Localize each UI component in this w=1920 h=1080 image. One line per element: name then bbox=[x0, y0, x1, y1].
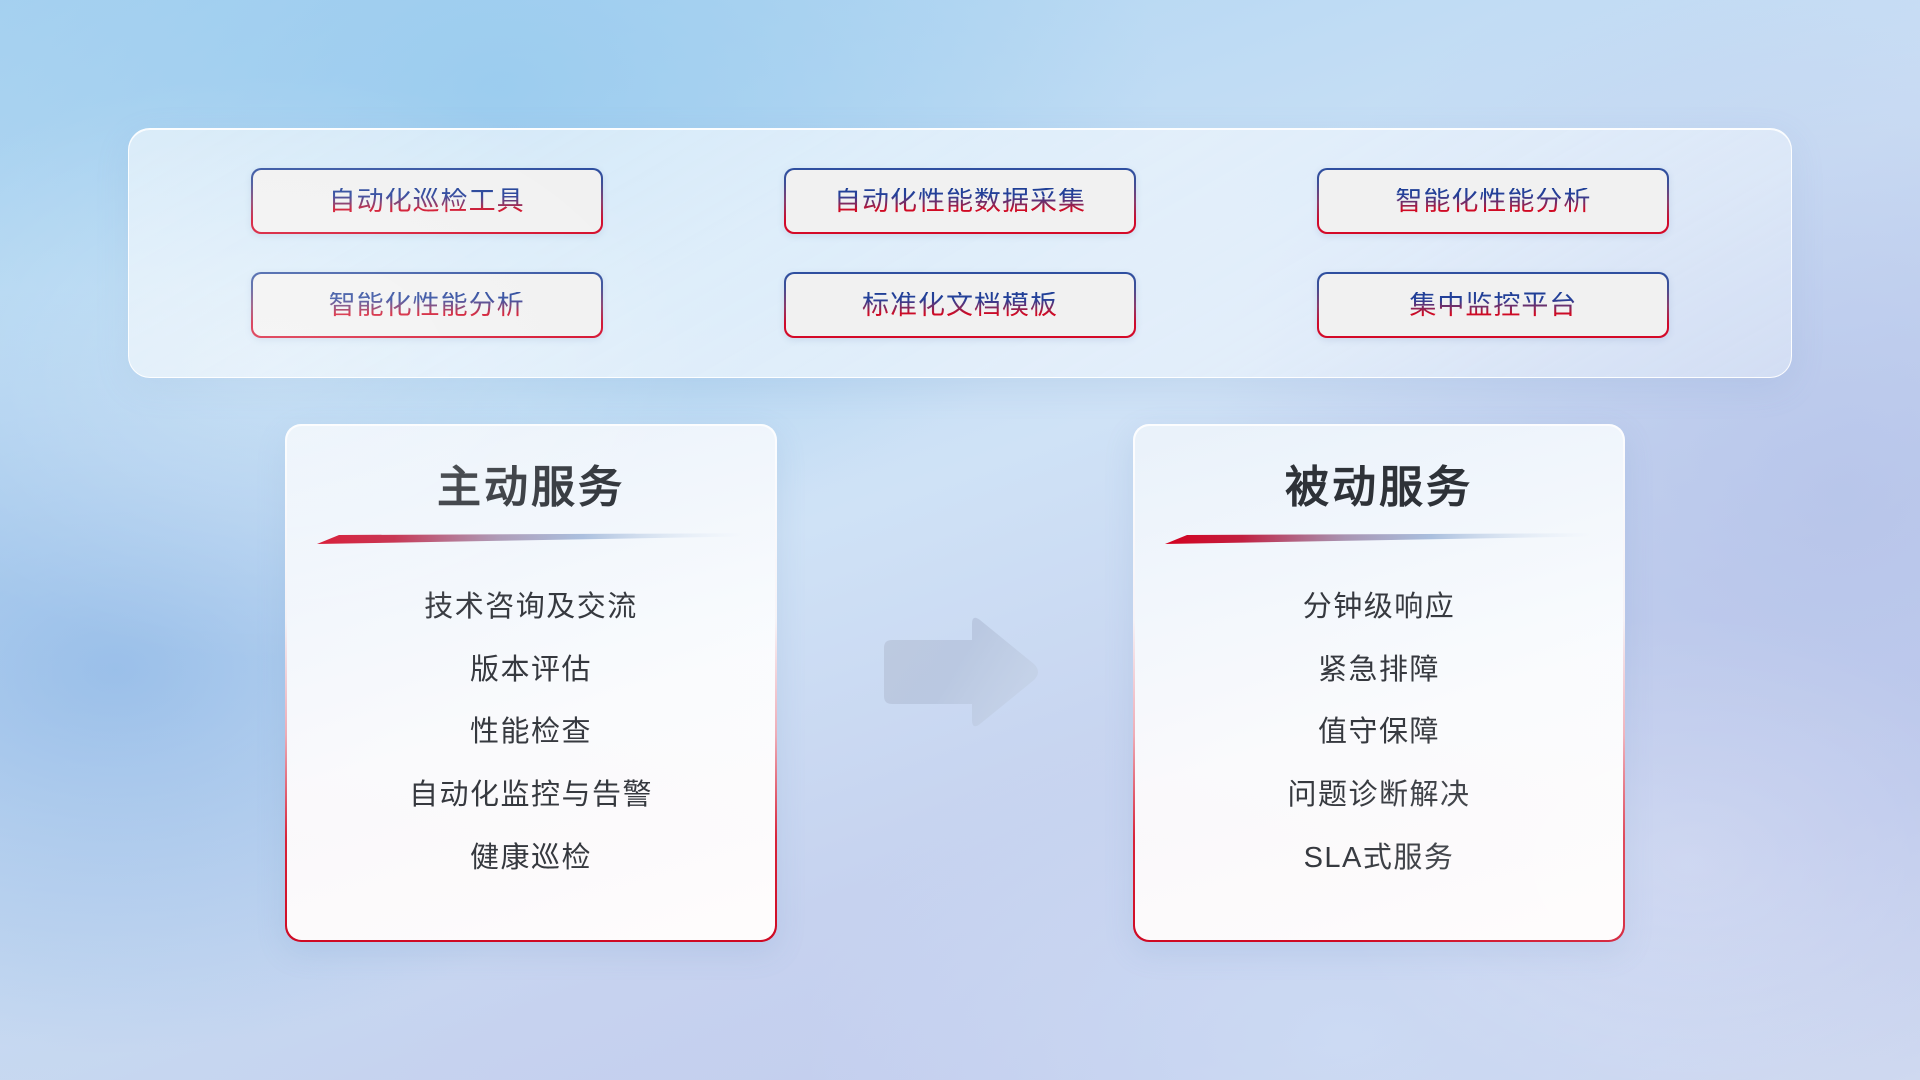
capability-chip-inner: 自动化巡检工具 bbox=[253, 170, 601, 232]
capability-panel: 自动化巡检工具 自动化性能数据采集 智能化性能分析 智能化性能分析 标准化文档模… bbox=[128, 128, 1792, 378]
service-card-title: 被动服务 bbox=[1285, 462, 1473, 514]
capability-chip-inner: 智能化性能分析 bbox=[1319, 170, 1667, 232]
service-item: 技术咨询及交流 bbox=[424, 593, 638, 622]
service-item: 值守保障 bbox=[1318, 718, 1440, 747]
capability-chip[interactable]: 标准化文档模板 bbox=[784, 272, 1136, 338]
capability-chip-inner: 标准化文档模板 bbox=[786, 274, 1134, 336]
capability-chip[interactable]: 智能化性能分析 bbox=[251, 272, 603, 338]
capability-chip-label: 标准化文档模板 bbox=[862, 292, 1058, 319]
arrow-right-icon bbox=[872, 612, 1042, 732]
slide-canvas: 自动化巡检工具 自动化性能数据采集 智能化性能分析 智能化性能分析 标准化文档模… bbox=[0, 0, 1920, 1080]
service-item: 紧急排障 bbox=[1318, 656, 1440, 685]
service-item: 性能检查 bbox=[470, 718, 592, 747]
capability-chip[interactable]: 自动化性能数据采集 bbox=[784, 168, 1136, 234]
capability-chip-inner: 智能化性能分析 bbox=[253, 274, 601, 336]
service-card-proactive[interactable]: 主动服务 bbox=[285, 424, 777, 942]
service-item: 问题诊断解决 bbox=[1287, 781, 1470, 810]
capability-chip-label: 自动化性能数据采集 bbox=[834, 188, 1086, 215]
capability-chip-label: 智能化性能分析 bbox=[329, 292, 525, 319]
service-card-title: 主动服务 bbox=[437, 462, 625, 514]
capability-chip-label: 智能化性能分析 bbox=[1395, 188, 1591, 215]
service-card-reactive[interactable]: 被动服务 bbox=[1133, 424, 1625, 942]
service-item: 版本评估 bbox=[470, 656, 592, 685]
capability-chip-inner: 自动化性能数据采集 bbox=[786, 170, 1134, 232]
capability-chip[interactable]: 智能化性能分析 bbox=[1317, 168, 1669, 234]
service-item-list: 技术咨询及交流 版本评估 性能检查 自动化监控与告警 健康巡检 bbox=[313, 560, 750, 917]
capability-chip-label: 自动化巡检工具 bbox=[329, 188, 525, 215]
service-card-inner: 被动服务 bbox=[1135, 426, 1624, 941]
capability-chip-label: 集中监控平台 bbox=[1409, 292, 1577, 319]
capability-chip[interactable]: 集中监控平台 bbox=[1317, 272, 1669, 338]
title-divider bbox=[1165, 532, 1593, 546]
service-item: 健康巡检 bbox=[470, 844, 592, 873]
service-item-list: 分钟级响应 紧急排障 值守保障 问题诊断解决 SLA式服务 bbox=[1161, 560, 1598, 917]
service-item: SLA式服务 bbox=[1304, 844, 1455, 873]
service-item: 分钟级响应 bbox=[1303, 593, 1456, 622]
capability-chip-inner: 集中监控平台 bbox=[1319, 274, 1667, 336]
capability-chip[interactable]: 自动化巡检工具 bbox=[251, 168, 603, 234]
service-card-inner: 主动服务 bbox=[287, 426, 776, 941]
service-item: 自动化监控与告警 bbox=[409, 781, 653, 810]
title-divider bbox=[317, 532, 745, 546]
